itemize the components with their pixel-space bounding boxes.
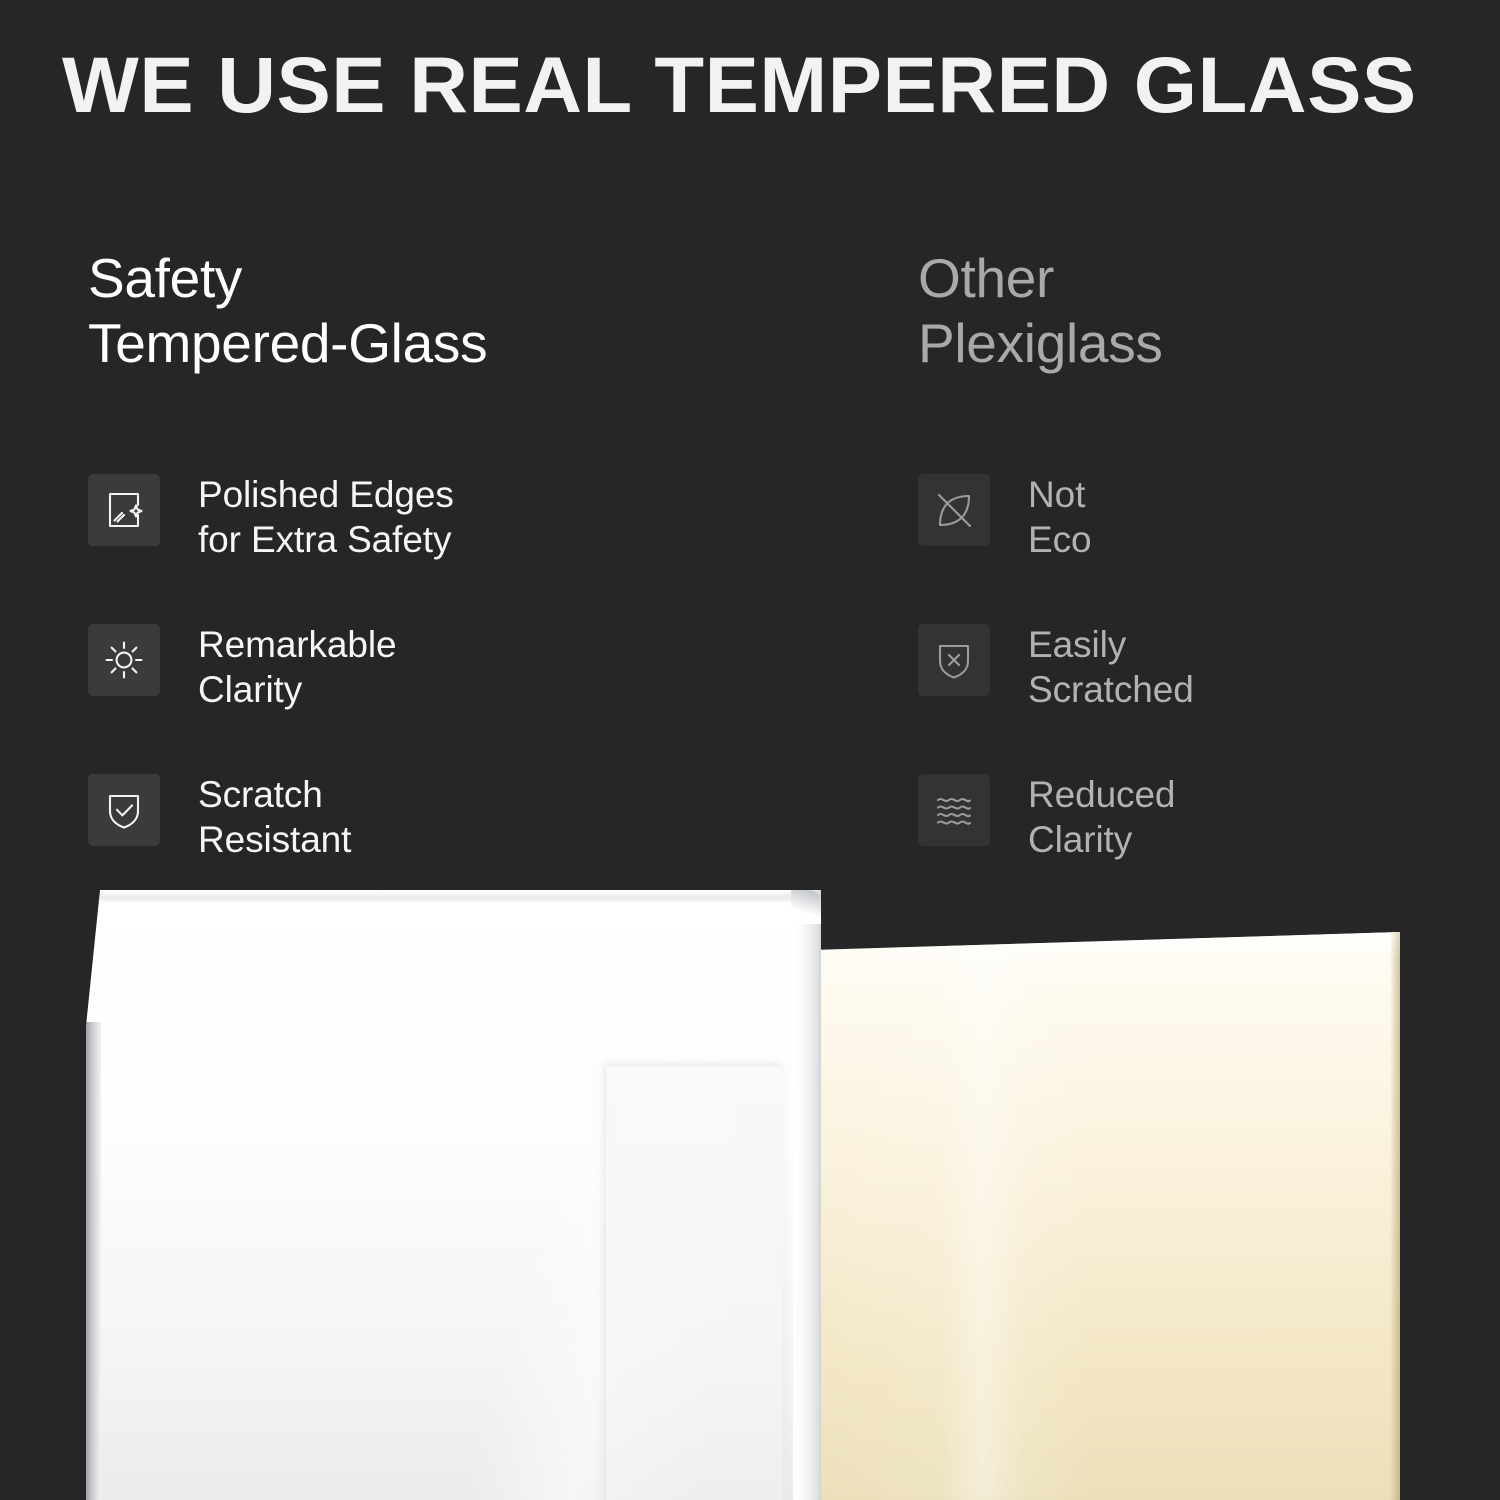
plexiglass-right-edge [1391, 932, 1400, 1500]
glass-left-polished-edge [86, 1022, 101, 1500]
glass-inner-reflection [606, 1066, 783, 1500]
feature-row: Not Eco [918, 470, 1478, 620]
feature-list-tempered-glass: Polished Edges for Extra Safety [88, 470, 728, 920]
comparison-infographic: WE USE REAL TEMPERED GLASS Safety Temper… [0, 0, 1500, 1500]
feature-label: Polished Edges for Extra Safety [198, 470, 454, 562]
feature-row: Easily Scratched [918, 620, 1478, 770]
feature-label: Easily Scratched [1028, 620, 1194, 712]
feature-label: Reduced Clarity [1028, 770, 1175, 862]
glass-top-polished-edge [86, 890, 821, 903]
feature-row: Polished Edges for Extra Safety [88, 470, 728, 620]
feature-label: Scratch Resistant [198, 770, 351, 862]
polished-glass-panel-icon [88, 474, 160, 546]
product-photo [0, 870, 1500, 1500]
plexiglass-top-edge [812, 932, 1400, 958]
page-title: WE USE REAL TEMPERED GLASS [62, 44, 1494, 126]
feature-list-plexiglass: Not Eco Easily Scratched [918, 470, 1478, 920]
column-plexiglass: Other Plexiglass Not Eco [918, 246, 1478, 376]
plexiglass-panel [812, 932, 1400, 1500]
feature-label: Not Eco [1028, 470, 1091, 562]
tempered-glass-panel [86, 890, 821, 1500]
feature-label: Remarkable Clarity [198, 620, 396, 712]
shield-x-icon [918, 624, 990, 696]
wavy-lines-icon [918, 774, 990, 846]
column-tempered-glass: Safety Tempered-Glass Polished Edges for… [88, 246, 728, 376]
feature-row: Remarkable Clarity [88, 620, 728, 770]
glass-right-polished-edge [793, 890, 821, 1500]
column-title-plexiglass: Other Plexiglass [918, 246, 1478, 376]
sun-brightness-icon [88, 624, 160, 696]
shield-check-icon [88, 774, 160, 846]
leaf-slashed-icon [918, 474, 990, 546]
column-title-tempered-glass: Safety Tempered-Glass [88, 246, 728, 376]
glass-corner-highlight [791, 890, 821, 924]
